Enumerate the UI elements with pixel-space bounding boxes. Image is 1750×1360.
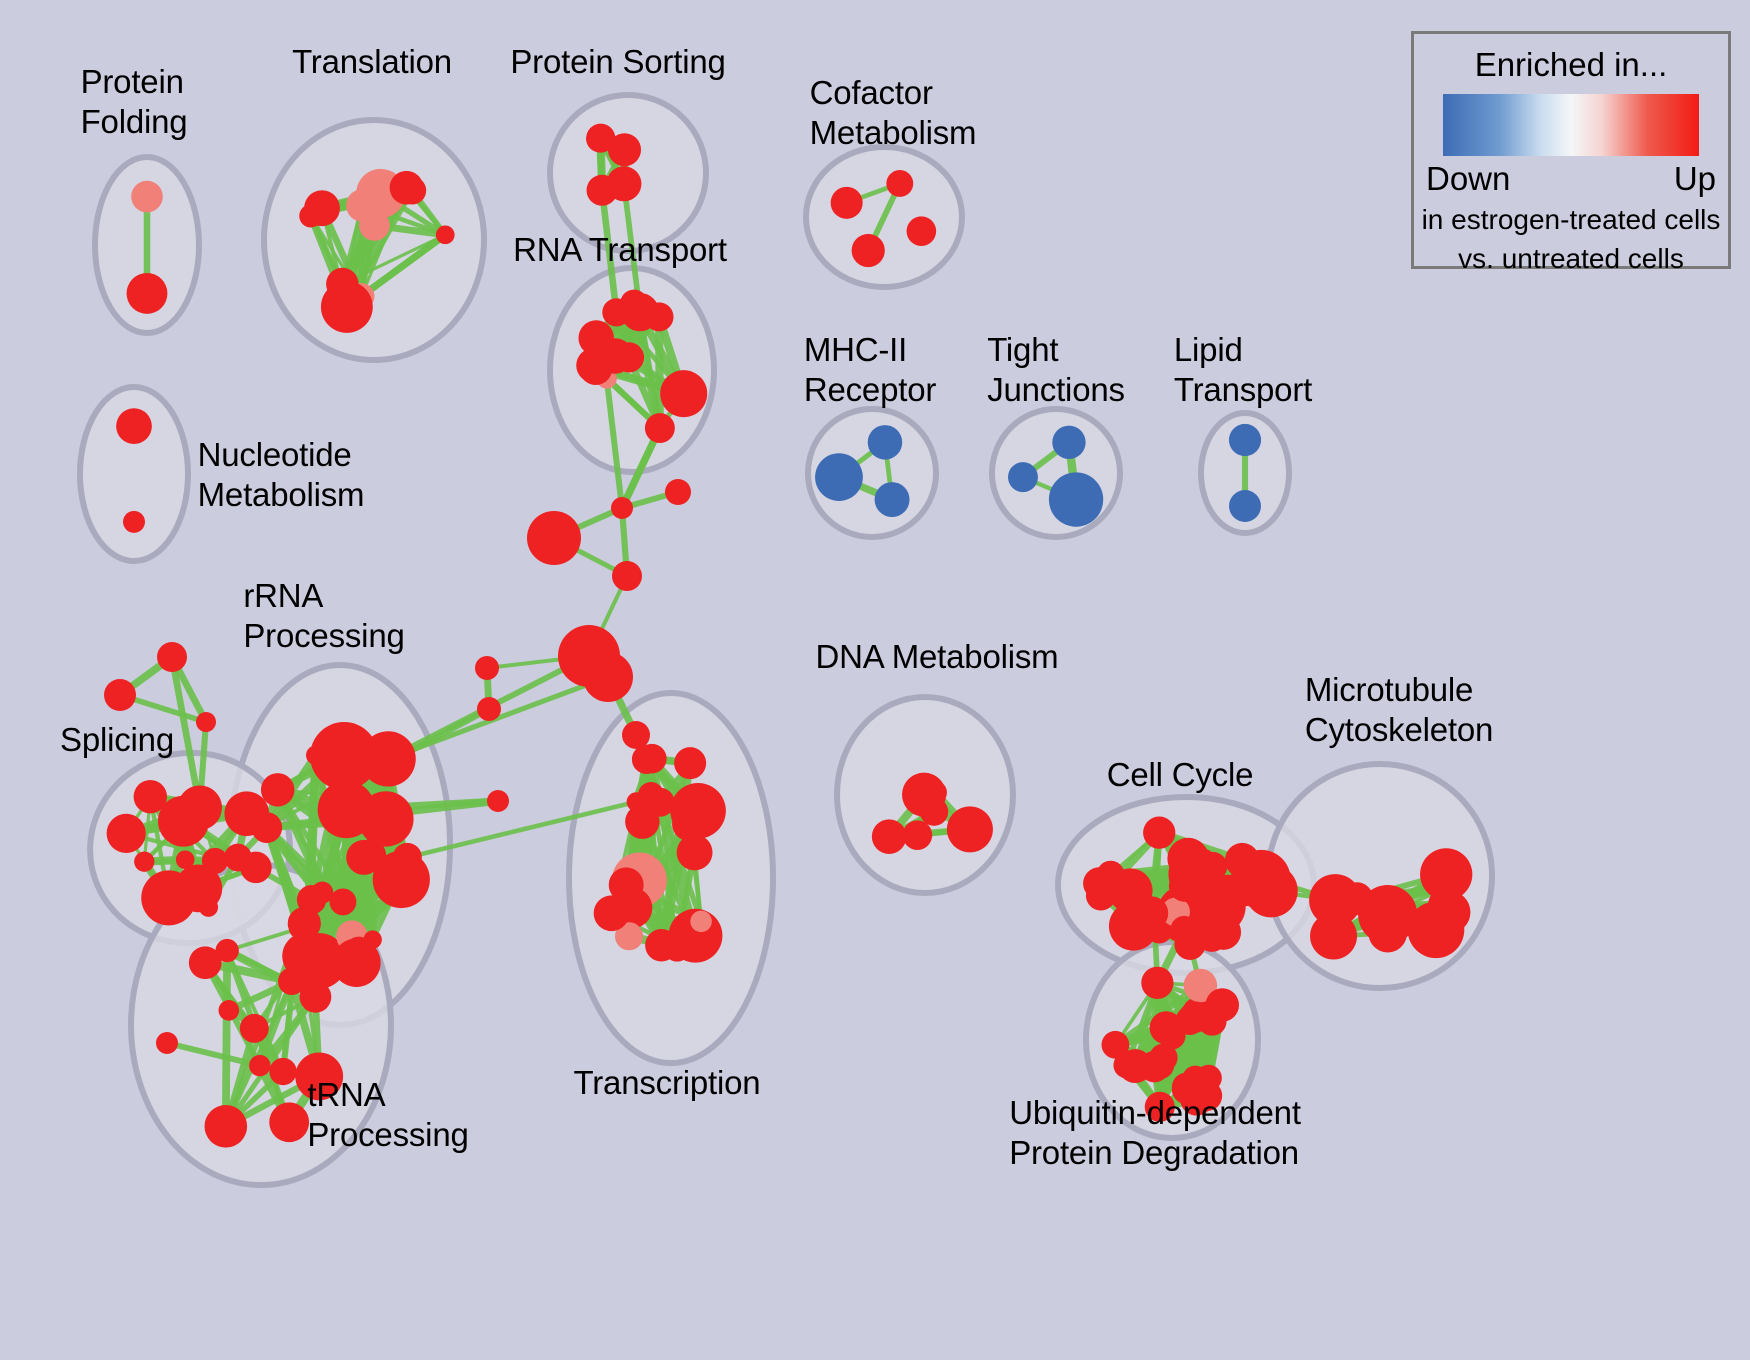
network-node[interactable] [240, 852, 272, 884]
network-node[interactable] [332, 939, 380, 987]
cluster-label-lipid_transport: Lipid Transport [1174, 330, 1312, 410]
network-node[interactable] [475, 656, 499, 680]
network-node[interactable] [868, 425, 903, 460]
legend-box: Enriched in... Down Up in estrogen-treat… [1411, 31, 1731, 269]
cluster-label-transcription: Transcription [574, 1063, 761, 1103]
network-node[interactable] [690, 911, 712, 933]
network-node[interactable] [1310, 913, 1357, 960]
cluster-label-trna_processing: tRNA Processing [307, 1075, 468, 1155]
legend-up-label: Up [1674, 160, 1716, 198]
network-node[interactable] [1430, 875, 1458, 903]
network-node[interactable] [1408, 901, 1465, 958]
network-node[interactable] [586, 125, 613, 152]
cluster-label-protein_folding: Protein Folding [81, 62, 188, 142]
cluster-label-mhc_ii_receptor: MHC-II Receptor [804, 330, 936, 410]
network-node[interactable] [269, 1102, 309, 1142]
network-edge [226, 951, 227, 1127]
cluster-label-tight_junctions: Tight Junctions [987, 330, 1125, 410]
network-node[interactable] [1141, 967, 1173, 999]
network-node[interactable] [1097, 861, 1125, 889]
network-node[interactable] [903, 820, 933, 850]
network-node[interactable] [157, 642, 187, 672]
network-node[interactable] [306, 746, 326, 766]
cluster-label-protein_sorting: Protein Sorting [510, 42, 725, 82]
network-node[interactable] [672, 807, 707, 842]
network-node[interactable] [107, 814, 146, 853]
cluster-label-translation: Translation [292, 42, 452, 82]
network-node[interactable] [116, 408, 152, 444]
network-node[interactable] [360, 731, 415, 786]
legend-down-label: Down [1426, 160, 1510, 198]
network-node[interactable] [358, 791, 413, 846]
cluster-label-nucleotide_metabolism: Nucleotide Metabolism [198, 435, 365, 515]
network-node[interactable] [1179, 1001, 1211, 1033]
cluster-label-cofactor_metabolism: Cofactor Metabolism [810, 73, 977, 153]
network-node[interactable] [196, 712, 216, 732]
network-node[interactable] [645, 929, 677, 961]
network-node[interactable] [831, 187, 863, 219]
network-node[interactable] [920, 798, 948, 826]
network-node[interactable] [674, 747, 706, 779]
network-node[interactable] [134, 780, 167, 813]
cluster-label-cell_cycle: Cell Cycle [1107, 755, 1254, 795]
network-node[interactable] [321, 281, 373, 333]
network-node[interactable] [1143, 817, 1175, 849]
network-node[interactable] [436, 225, 455, 244]
network-node[interactable] [1008, 462, 1038, 492]
network-node[interactable] [299, 204, 322, 227]
network-node[interactable] [189, 946, 222, 979]
cluster-label-dna_metabolism: DNA Metabolism [816, 637, 1059, 677]
network-node[interactable] [289, 919, 309, 939]
network-node[interactable] [204, 1105, 247, 1148]
network-node[interactable] [576, 348, 611, 383]
network-node[interactable] [620, 290, 648, 318]
legend-title: Enriched in... [1414, 46, 1728, 84]
network-node[interactable] [645, 413, 675, 443]
cluster-label-rna_transport: RNA Transport [513, 230, 727, 270]
network-node[interactable] [1052, 426, 1085, 459]
network-node[interactable] [249, 1055, 270, 1076]
network-node[interactable] [398, 177, 426, 205]
network-node[interactable] [104, 679, 136, 711]
cluster-label-rrna_processing: rRNA Processing [243, 576, 404, 656]
cluster-label-ubiquitin_protein_degradation: Ubiquitin-dependent Protein Degradation [1009, 1093, 1301, 1173]
network-node[interactable] [1118, 1049, 1152, 1083]
network-node[interactable] [373, 851, 430, 908]
network-node[interactable] [1229, 490, 1261, 522]
network-node[interactable] [1169, 870, 1201, 902]
network-node[interactable] [527, 511, 581, 565]
network-node[interactable] [614, 342, 644, 372]
network-node[interactable] [359, 210, 390, 241]
legend-caption-line2: vs. untreated cells [1414, 241, 1728, 276]
network-node[interactable] [1049, 472, 1103, 526]
network-node[interactable] [240, 1014, 269, 1043]
network-node[interactable] [224, 791, 269, 836]
network-node[interactable] [1205, 988, 1239, 1022]
network-node[interactable] [611, 497, 633, 519]
network-node[interactable] [131, 181, 163, 213]
network-node[interactable] [127, 273, 168, 314]
network-node[interactable] [176, 850, 195, 869]
network-node[interactable] [261, 773, 294, 806]
network-node[interactable] [634, 751, 656, 773]
network-node[interactable] [1149, 1044, 1177, 1072]
legend-caption-line1: in estrogen-treated cells [1414, 202, 1728, 237]
network-node[interactable] [199, 898, 218, 917]
network-node[interactable] [1340, 882, 1373, 915]
network-node[interactable] [665, 479, 691, 505]
network-node[interactable] [156, 1032, 178, 1054]
network-node[interactable] [609, 867, 644, 902]
network-node[interactable] [886, 170, 913, 197]
network-node[interactable] [1150, 1011, 1183, 1044]
network-node[interactable] [907, 216, 937, 246]
network-node[interactable] [606, 166, 641, 201]
legend-gradient-bar [1443, 94, 1699, 156]
network-node[interactable] [300, 981, 332, 1013]
network-node[interactable] [947, 806, 993, 852]
network-node[interactable] [219, 1000, 240, 1021]
network-node[interactable] [202, 848, 228, 874]
network-node[interactable] [1229, 424, 1261, 456]
network-node[interactable] [477, 697, 501, 721]
network-node[interactable] [815, 453, 863, 501]
network-node[interactable] [875, 482, 910, 517]
cluster-label-splicing: Splicing [60, 720, 174, 760]
network-node[interactable] [123, 511, 145, 533]
cluster-label-microtubule_cytoskeleton: Microtubule Cytoskeleton [1305, 670, 1493, 750]
network-node[interactable] [612, 561, 642, 591]
network-node[interactable] [872, 819, 907, 854]
network-node[interactable] [134, 851, 154, 871]
network-node[interactable] [330, 888, 357, 915]
network-node[interactable] [622, 721, 650, 749]
network-figure: Protein FoldingTranslationProtein Sortin… [0, 0, 1750, 1360]
network-node[interactable] [294, 941, 322, 969]
network-node[interactable] [660, 370, 707, 417]
network-node[interactable] [269, 1058, 296, 1085]
network-node[interactable] [1225, 843, 1259, 877]
network-node[interactable] [141, 870, 196, 925]
network-node[interactable] [1171, 916, 1198, 943]
network-node[interactable] [852, 234, 885, 267]
network-node[interactable] [487, 790, 509, 812]
network-node[interactable] [638, 782, 664, 808]
network-node[interactable] [583, 652, 633, 702]
